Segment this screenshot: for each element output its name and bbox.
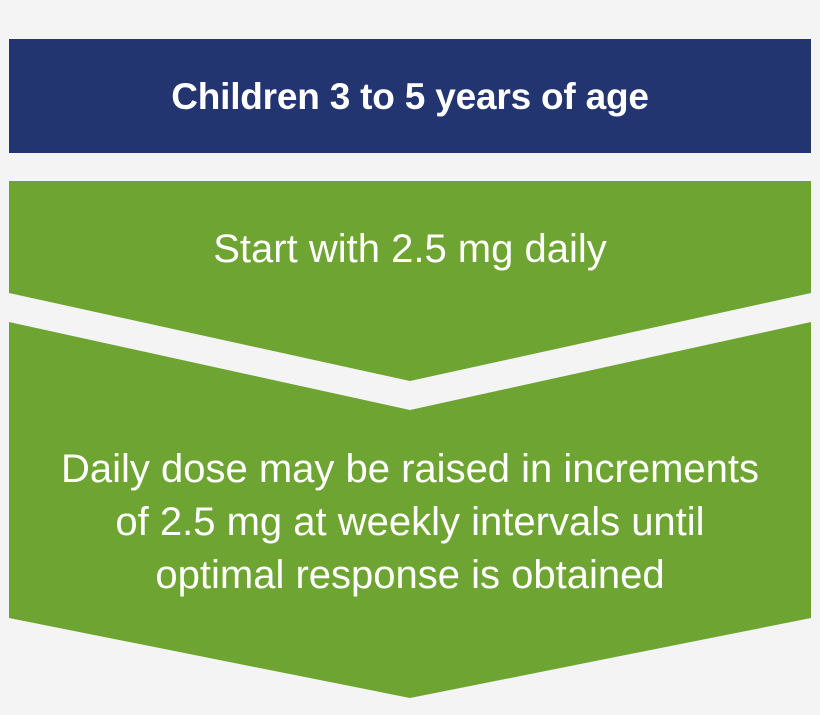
chevron-steps-graphic <box>0 0 820 715</box>
dosing-flow-diagram: Children 3 to 5 years of age Start with … <box>0 0 820 715</box>
